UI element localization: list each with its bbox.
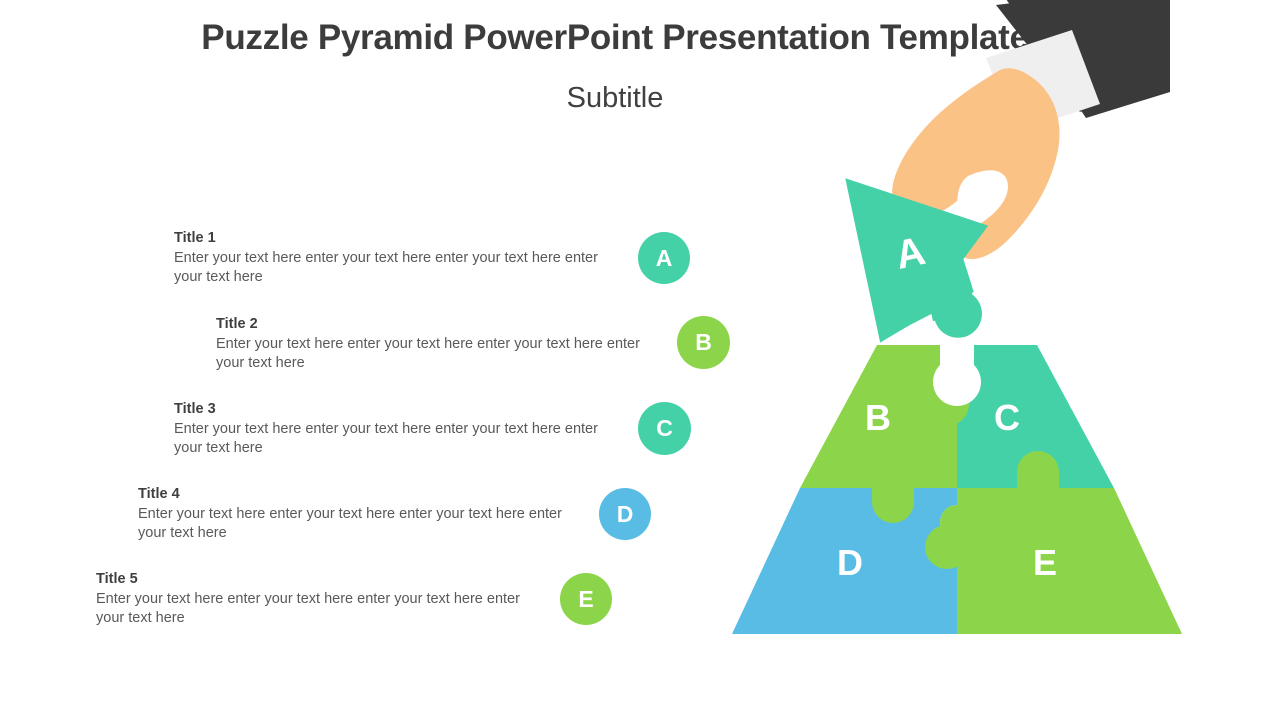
item-title-1: Title 1 [174,230,610,246]
item-body-4: Enter your text here enter your text her… [138,505,570,542]
item-body-3: Enter your text here enter your text her… [174,420,610,457]
item-body-2: Enter your text here enter your text her… [216,335,648,372]
badge-e-label: E [578,588,593,611]
item-title-3: Title 3 [174,401,610,417]
badge-d-label: D [617,503,634,526]
item-body-1: Enter your text here enter your text her… [174,249,610,286]
piece-letter-e: E [1033,542,1057,583]
list-item-2[interactable]: Title 2 Enter your text here enter your … [216,316,648,372]
list-item-4[interactable]: Title 4 Enter your text here enter your … [138,486,570,542]
list-item-3[interactable]: Title 3 Enter your text here enter your … [174,401,610,457]
item-body-5: Enter your text here enter your text her… [96,590,532,627]
puzzle-knob-e-d [925,525,969,569]
piece-letter-b: B [865,397,891,438]
badge-d[interactable]: D [599,488,651,540]
list-item-5[interactable]: Title 5 Enter your text here enter your … [96,571,532,627]
slide-canvas: Puzzle Pyramid PowerPoint Presentation T… [0,0,1280,720]
piece-letter-d: D [837,542,863,583]
list-item-1[interactable]: Title 1 Enter your text here enter your … [174,230,610,286]
puzzle-piece-e [940,488,1182,634]
badge-a[interactable]: A [638,232,690,284]
badge-c[interactable]: C [638,402,691,455]
item-title-5: Title 5 [96,571,532,587]
item-title-2: Title 2 [216,316,648,332]
item-title-4: Title 4 [138,486,570,502]
badge-c-label: C [656,417,673,440]
badge-a-label: A [656,247,673,270]
piece-letter-c: C [994,397,1020,438]
puzzle-notch-apex [933,341,981,406]
puzzle-pyramid-graphic: B C D E [700,0,1280,720]
badge-e[interactable]: E [560,573,612,625]
